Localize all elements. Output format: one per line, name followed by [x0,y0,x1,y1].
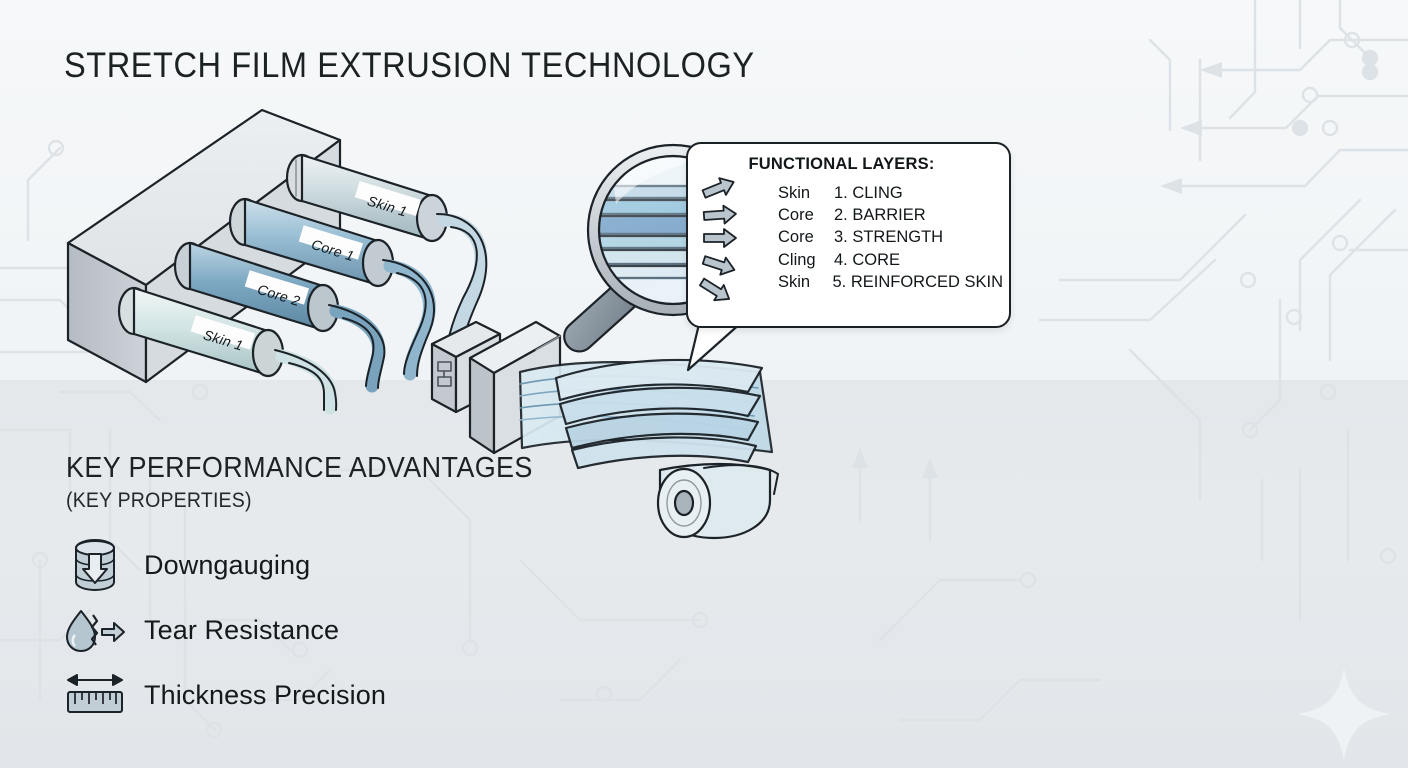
advantage-label: Tear Resistance [144,615,339,646]
droplet-tear-arrow-icon [64,601,126,659]
layer-function: 4. CORE [834,251,900,270]
callout-heading: FUNCTIONAL LAYERS: [686,155,997,174]
layer-row: Skin 1. CLING [778,182,1003,204]
layer-function: 5. REINFORCED SKIN [832,273,1003,292]
layer-row: Core 2. BARRIER [778,204,1003,226]
layer-function: 3. STRENGTH [834,228,943,247]
drum-down-arrow-icon [64,536,126,594]
layer-function: 2. BARRIER [834,206,926,225]
layer-function: 1. CLING [834,184,903,203]
layer-row: Skin 5. REINFORCED SKIN [778,272,1003,294]
functional-layers-list: Skin 1. CLING Core 2. BARRIER Core 3. ST… [778,182,1003,294]
advantage-item-downgauging: Downgauging [64,536,310,594]
advantage-label: Downgauging [144,550,310,581]
layer-kind: Core [778,228,834,247]
ruler-measure-icon [64,666,126,724]
multilayer-film-web [520,360,772,468]
section-subheading: (KEY PROPERTIES) [66,489,252,513]
layer-kind: Skin [778,184,834,203]
film-roll [658,464,778,538]
layer-kind: Core [778,206,834,225]
advantage-item-tear-resistance: Tear Resistance [64,601,339,659]
layer-kind: Skin [778,273,832,292]
section-heading: KEY PERFORMANCE ADVANTAGES [66,452,533,485]
layer-row: Core 3. STRENGTH [778,227,1003,249]
layer-row: Cling 4. CORE [778,249,1003,271]
functional-layers-callout: FUNCTIONAL LAYERS: [686,142,1011,328]
layer-kind: Cling [778,251,834,270]
advantage-label: Thickness Precision [144,680,386,711]
infographic-canvas: Skin 1 Core 1 Core 2 Skin 1 STRETCH FILM… [0,0,1408,768]
page-title: STRETCH FILM EXTRUSION TECHNOLOGY [64,46,755,86]
advantage-item-thickness-precision: Thickness Precision [64,666,386,724]
